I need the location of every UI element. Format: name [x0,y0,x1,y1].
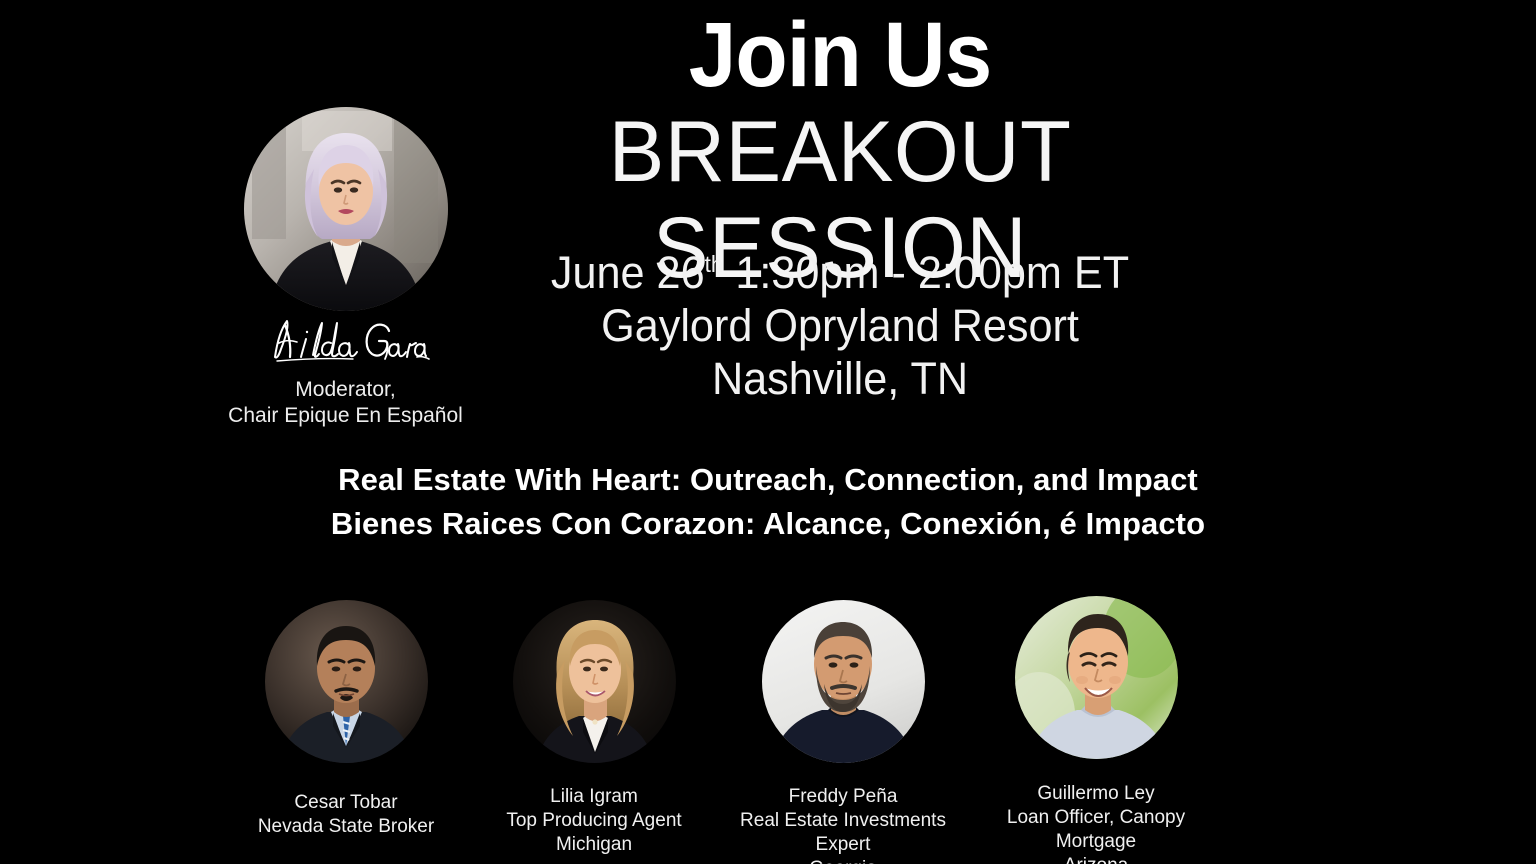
event-date: June 26 [551,247,705,298]
speaker-card: Freddy Peña Real Estate Investments Expe… [719,600,967,864]
speaker-portrait-image [762,600,925,763]
moderator-signature [188,313,503,369]
speaker-portrait-image [265,600,428,763]
speaker-region: Georgia [719,857,967,864]
speaker-caption: Guillermo Ley Loan Officer, Canopy Mortg… [972,782,1220,864]
speaker-portrait-image [1015,596,1178,759]
speaker-photo [762,600,925,763]
speaker-role: Top Producing Agent [470,809,718,833]
speaker-caption: Lilia Igram Top Producing Agent Michigan [470,785,718,857]
speaker-caption: Cesar Tobar Nevada State Broker [222,791,470,839]
date-ordinal-suffix: th [705,251,724,277]
speaker-portrait-image [513,600,676,763]
event-city: Nashville, TN [446,356,1233,401]
event-details: June 26th 1:30pm - 2:00pm ET Gaylord Opr… [446,250,1233,401]
session-title-block: Real Estate With Heart: Outreach, Connec… [168,458,1368,546]
speaker-name: Guillermo Ley [972,782,1220,806]
speaker-role: Real Estate Investments Expert [719,809,967,857]
speaker-role: Loan Officer, Canopy Mortgage [972,806,1220,854]
speakers-row: Cesar Tobar Nevada State Broker [222,600,1314,864]
speaker-name: Lilia Igram [470,785,718,809]
event-venue: Gaylord Opryland Resort [446,303,1233,348]
moderator-role-line1: Moderator, [188,377,503,403]
moderator-block: Moderator, Chair Epique En Español [188,107,503,428]
speaker-caption: Freddy Peña Real Estate Investments Expe… [719,785,967,864]
speaker-name: Freddy Peña [719,785,967,809]
moderator-role-line2: Chair Epique En Español [188,403,503,429]
speaker-card: Cesar Tobar Nevada State Broker [222,600,470,839]
moderator-portrait-image [244,107,448,311]
event-datetime-line: June 26th 1:30pm - 2:00pm ET [446,250,1233,295]
speaker-card: Lilia Igram Top Producing Agent Michigan [470,600,718,857]
event-time: 1:30pm - 2:00pm ET [735,247,1129,298]
promo-slide: Join Us BREAKOUT SESSION June 26th 1:30p… [0,0,1536,864]
session-title-spanish: Bienes Raices Con Corazon: Alcance, Cone… [168,502,1368,546]
speaker-name: Cesar Tobar [222,791,470,815]
speaker-role: Nevada State Broker [222,815,470,839]
speaker-photo [513,600,676,763]
session-title-english: Real Estate With Heart: Outreach, Connec… [168,458,1368,502]
speaker-card: Guillermo Ley Loan Officer, Canopy Mortg… [972,600,1220,864]
moderator-photo [244,107,448,311]
speaker-region: Arizona [972,854,1220,864]
speaker-photo [1015,596,1178,759]
speaker-region: Michigan [470,833,718,857]
speaker-photo [265,600,428,763]
join-us-heading: Join Us [431,10,1249,100]
moderator-role: Moderator, Chair Epique En Español [188,377,503,428]
